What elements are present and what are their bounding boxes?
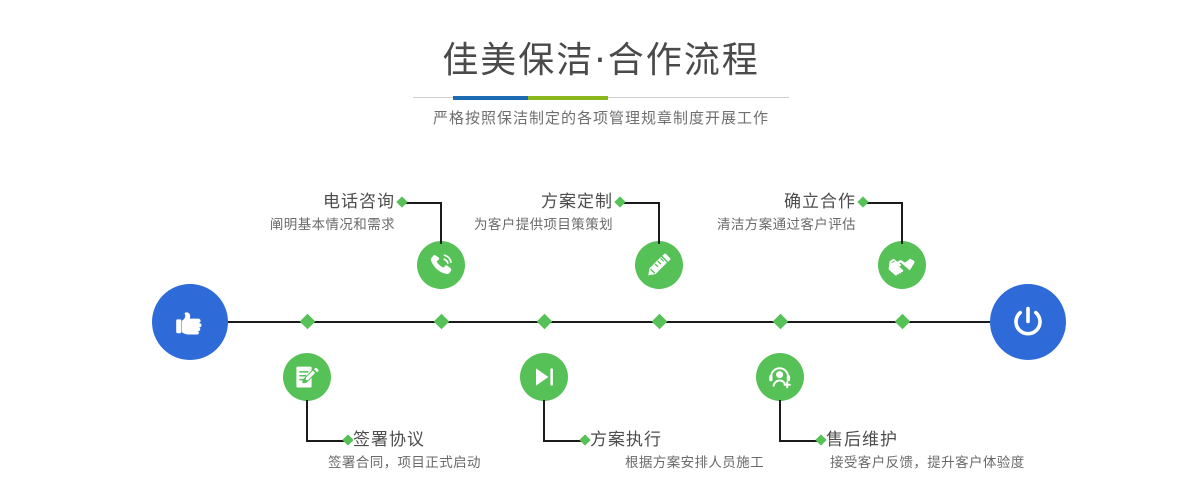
step-5-leader-horizontal [863,202,903,204]
step-6-axis-marker [773,314,789,330]
step-6-desc: 接受客户反馈，提升客户体验度 [830,453,1130,473]
step-5-axis-marker [895,314,911,330]
step-6-title: 售后维护 [826,429,1076,451]
step-2-desc: 签署合同，项目正式启动 [328,453,618,473]
step-4-leader-vertical [543,400,545,442]
step-3-node[interactable] [635,241,683,289]
step-4-axis-marker [537,314,553,330]
step-5-title: 确立合作 [613,191,856,213]
step-1-node[interactable] [417,241,465,289]
step-3-title: 方案定制 [370,191,613,213]
step-2-leader-vertical [306,400,308,442]
step-6-leader-horizontal [779,440,819,442]
step-5-leader-tip [857,196,868,207]
step-4-leader-horizontal [543,440,583,442]
step-2-leader-tip [342,434,353,445]
step-2-axis-marker [300,314,316,330]
step-5-node[interactable] [878,241,926,289]
timeline-end-endpoint [990,284,1066,360]
page-subtitle: 严格按照保洁制定的各项管理规章制度开展工作 [0,106,1202,130]
step-4-node[interactable] [520,353,568,401]
step-1-axis-marker [434,314,450,330]
page-title: 佳美保洁·合作流程 [0,38,1202,84]
step-2-node[interactable] [283,353,331,401]
step-3-axis-marker [652,314,668,330]
title-divider [413,96,789,100]
timeline-start-endpoint [152,284,228,360]
divider-green-segment [528,96,608,100]
step-5-leader-vertical [901,202,903,244]
step-6-node[interactable] [756,353,804,401]
step-5-desc: 清洁方案通过客户评估 [573,215,856,235]
divider-blue-segment [453,96,528,100]
step-2-leader-horizontal [306,440,346,442]
step-6-leader-vertical [779,400,781,442]
step-1-title: 电话咨询 [150,191,395,213]
step-3-desc: 为客户提供项目策策划 [330,215,613,235]
cooperation-process-infographic: 佳美保洁·合作流程 严格按照保洁制定的各项管理规章制度开展工作 [0,0,1202,502]
